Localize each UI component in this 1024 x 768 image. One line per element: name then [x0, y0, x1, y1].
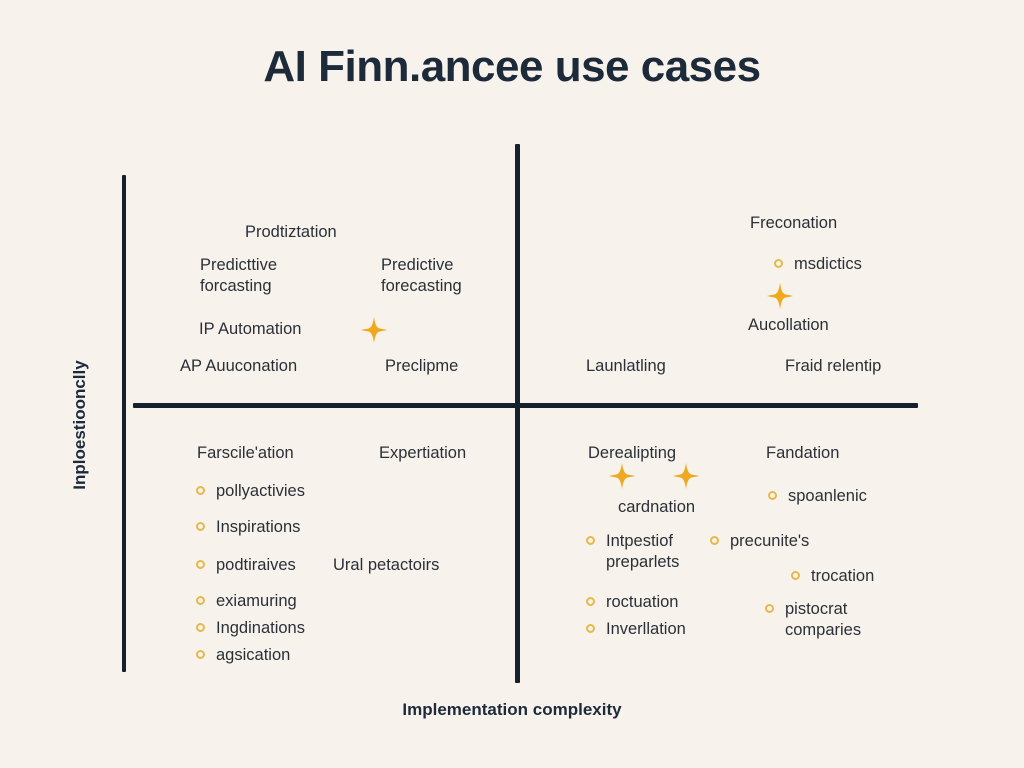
quadrant-item-label: Farscile'ation	[197, 443, 294, 464]
quadrant-item-label: podtiraives	[196, 555, 296, 576]
axis-line-vertical-left	[122, 175, 126, 672]
quadrant-item-label: Preclipme	[385, 356, 458, 377]
quadrant-item-label: precunite's	[710, 531, 809, 552]
quadrant-item-label: exiamuring	[196, 591, 297, 612]
quadrant-item-label: Freconation	[750, 213, 837, 234]
quadrant-item-label: IP Automation	[199, 319, 301, 340]
sparkle-icon	[360, 316, 388, 344]
quadrant-item-label: Aucollation	[748, 315, 829, 336]
quadrant-item-label: Intpestiof preparlets	[586, 531, 679, 573]
quadrant-item-label: Inspirations	[196, 517, 300, 538]
quadrant-item-label: spoanlenic	[768, 486, 867, 507]
quadrant-item-label: Fraid relentip	[785, 356, 881, 377]
quadrant-item-label: Ingdinations	[196, 618, 305, 639]
sparkle-icon	[672, 462, 700, 490]
sparkle-icon	[608, 462, 636, 490]
quadrant-item-label: Ural petactoirs	[333, 555, 439, 576]
axis-line-horizontal	[133, 403, 918, 408]
page-title: AI Finn.ancee use cases	[0, 42, 1024, 92]
axis-line-vertical-center	[515, 144, 520, 683]
quadrant-item-label: roctuation	[586, 592, 678, 613]
quadrant-item-label: Prodtiztation	[245, 222, 337, 243]
quadrant-item-label: Inverllation	[586, 619, 686, 640]
quadrant-item-label: Fandation	[766, 443, 839, 464]
quadrant-item-label: msdictics	[774, 254, 862, 275]
quadrant-item-label: pistocrat comparies	[765, 599, 861, 641]
quadrant-item-label: Predictive forecasting	[381, 255, 462, 297]
x-axis-label: Implementation complexity	[0, 700, 1024, 720]
quadrant-item-label: cardnation	[618, 497, 695, 518]
quadrant-item-label: AP Auuconation	[180, 356, 297, 377]
quadrant-item-label: pollyactivies	[196, 481, 305, 502]
quadrant-item-label: Predicttive forcasting	[200, 255, 277, 297]
quadrant-item-label: trocation	[791, 566, 874, 587]
quadrant-item-label: Launlatling	[586, 356, 666, 377]
quadrant-item-label: agsication	[196, 645, 290, 666]
quadrant-item-label: Expertiation	[379, 443, 466, 464]
y-axis-label: Inploestioonclly	[70, 315, 90, 535]
chart-canvas: AI Finn.ancee use cases Inploestioonclly…	[0, 0, 1024, 768]
quadrant-item-label: Derealipting	[588, 443, 676, 464]
sparkle-icon	[766, 282, 794, 310]
